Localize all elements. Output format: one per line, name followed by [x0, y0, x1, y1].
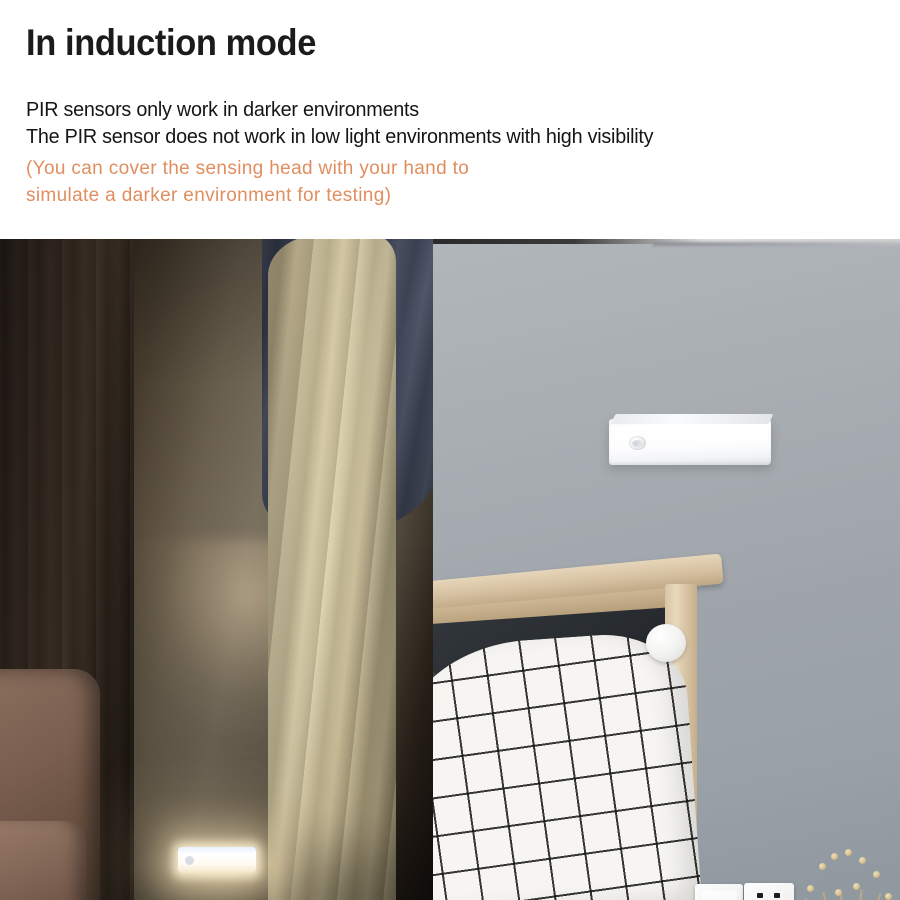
bright-room-photo: [433, 239, 900, 900]
led-bar-light-off: [609, 419, 771, 465]
note-line-2: simulate a darker environment for testin…: [26, 183, 900, 210]
dried-flowers: [801, 849, 900, 900]
cream-curtain: [268, 239, 396, 900]
subtitle-block: PIR sensors only work in darker environm…: [26, 96, 900, 150]
page-title: In induction mode: [26, 22, 839, 63]
pir-sensor-icon: [185, 856, 194, 865]
header-text-block: In induction mode PIR sensors only work …: [0, 0, 900, 239]
led-bar-top-face: [611, 414, 774, 424]
subtitle-line-1: PIR sensors only work in darker environm…: [26, 96, 869, 123]
armchair-cushion: [0, 821, 86, 900]
ceiling-edge-secondary: [653, 242, 900, 246]
led-bar-light-on: [178, 847, 256, 873]
dark-room-photo: [0, 239, 433, 900]
note-block: (You can cover the sensing head with you…: [26, 156, 900, 210]
socket-hole: [757, 893, 763, 898]
socket-hole: [774, 893, 780, 898]
pir-sensor-icon: [629, 436, 646, 450]
wall-switch: [695, 884, 743, 900]
wall-socket: [744, 883, 794, 900]
checkered-pillow: [433, 629, 702, 900]
pillow-pompom: [646, 624, 686, 662]
note-line-1: (You can cover the sensing head with you…: [26, 156, 900, 183]
comparison-photo-strip: PIR sensors only sense in darker environ…: [0, 239, 900, 900]
switch-rocker: [700, 889, 738, 900]
subtitle-line-2: The PIR sensor does not work in low ligh…: [26, 123, 869, 150]
product-feature-page: In induction mode PIR sensors only work …: [0, 0, 900, 900]
